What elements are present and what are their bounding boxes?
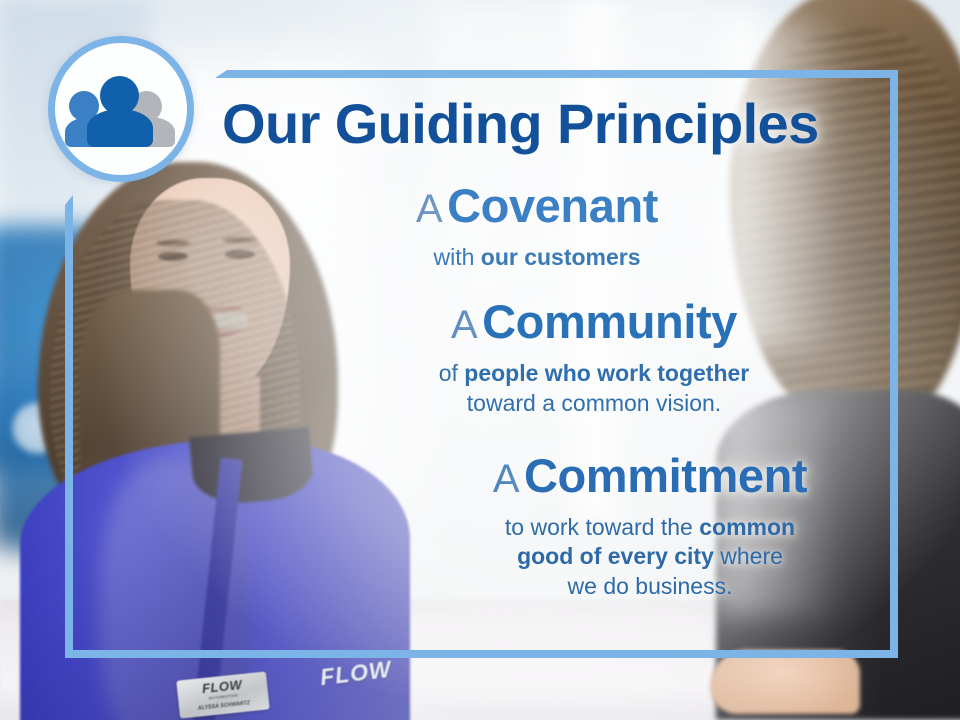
- principle-covenant-word: Covenant: [447, 179, 658, 232]
- principle-text-line: toward a common vision.: [330, 389, 858, 418]
- principle-commitment-word: Commitment: [524, 449, 807, 502]
- page-title: Our Guiding Principles: [222, 96, 882, 152]
- principle-text-line: of people who work together: [330, 359, 858, 388]
- principle-text-line: good of every city where: [408, 542, 892, 571]
- principle-text-line: to work toward the common: [408, 513, 892, 542]
- principle-text-line: we do business.: [408, 572, 892, 601]
- principle-community-text: of people who work togethertoward a comm…: [330, 359, 858, 418]
- person-center-body: [87, 109, 153, 147]
- principles-list: A Covenant with our customers A Communit…: [300, 182, 892, 605]
- principle-covenant-text: with our customers: [300, 243, 774, 272]
- principle-covenant-heading: A Covenant: [300, 182, 774, 231]
- customer-hand: [710, 650, 860, 714]
- principle-covenant: A Covenant with our customers: [300, 182, 892, 272]
- people-badge: [48, 36, 194, 182]
- banner-canvas: FLOW AUTOMOTIVE ALYSSA SCHWARTZ FLOW: [0, 0, 960, 720]
- principle-community-article: A: [451, 303, 478, 347]
- principle-commitment-text: to work toward the commongood of every c…: [408, 513, 892, 601]
- principle-covenant-article: A: [416, 187, 443, 231]
- principle-community-word: Community: [482, 295, 737, 348]
- principle-commitment-article: A: [493, 457, 520, 501]
- three-people-icon: [69, 73, 173, 145]
- principle-commitment: A Commitment to work toward the commongo…: [300, 452, 892, 601]
- principle-community: A Community of people who work togethert…: [300, 298, 892, 418]
- principle-commitment-heading: A Commitment: [408, 452, 892, 501]
- principle-community-heading: A Community: [330, 298, 858, 347]
- principle-text-line: with our customers: [300, 243, 774, 272]
